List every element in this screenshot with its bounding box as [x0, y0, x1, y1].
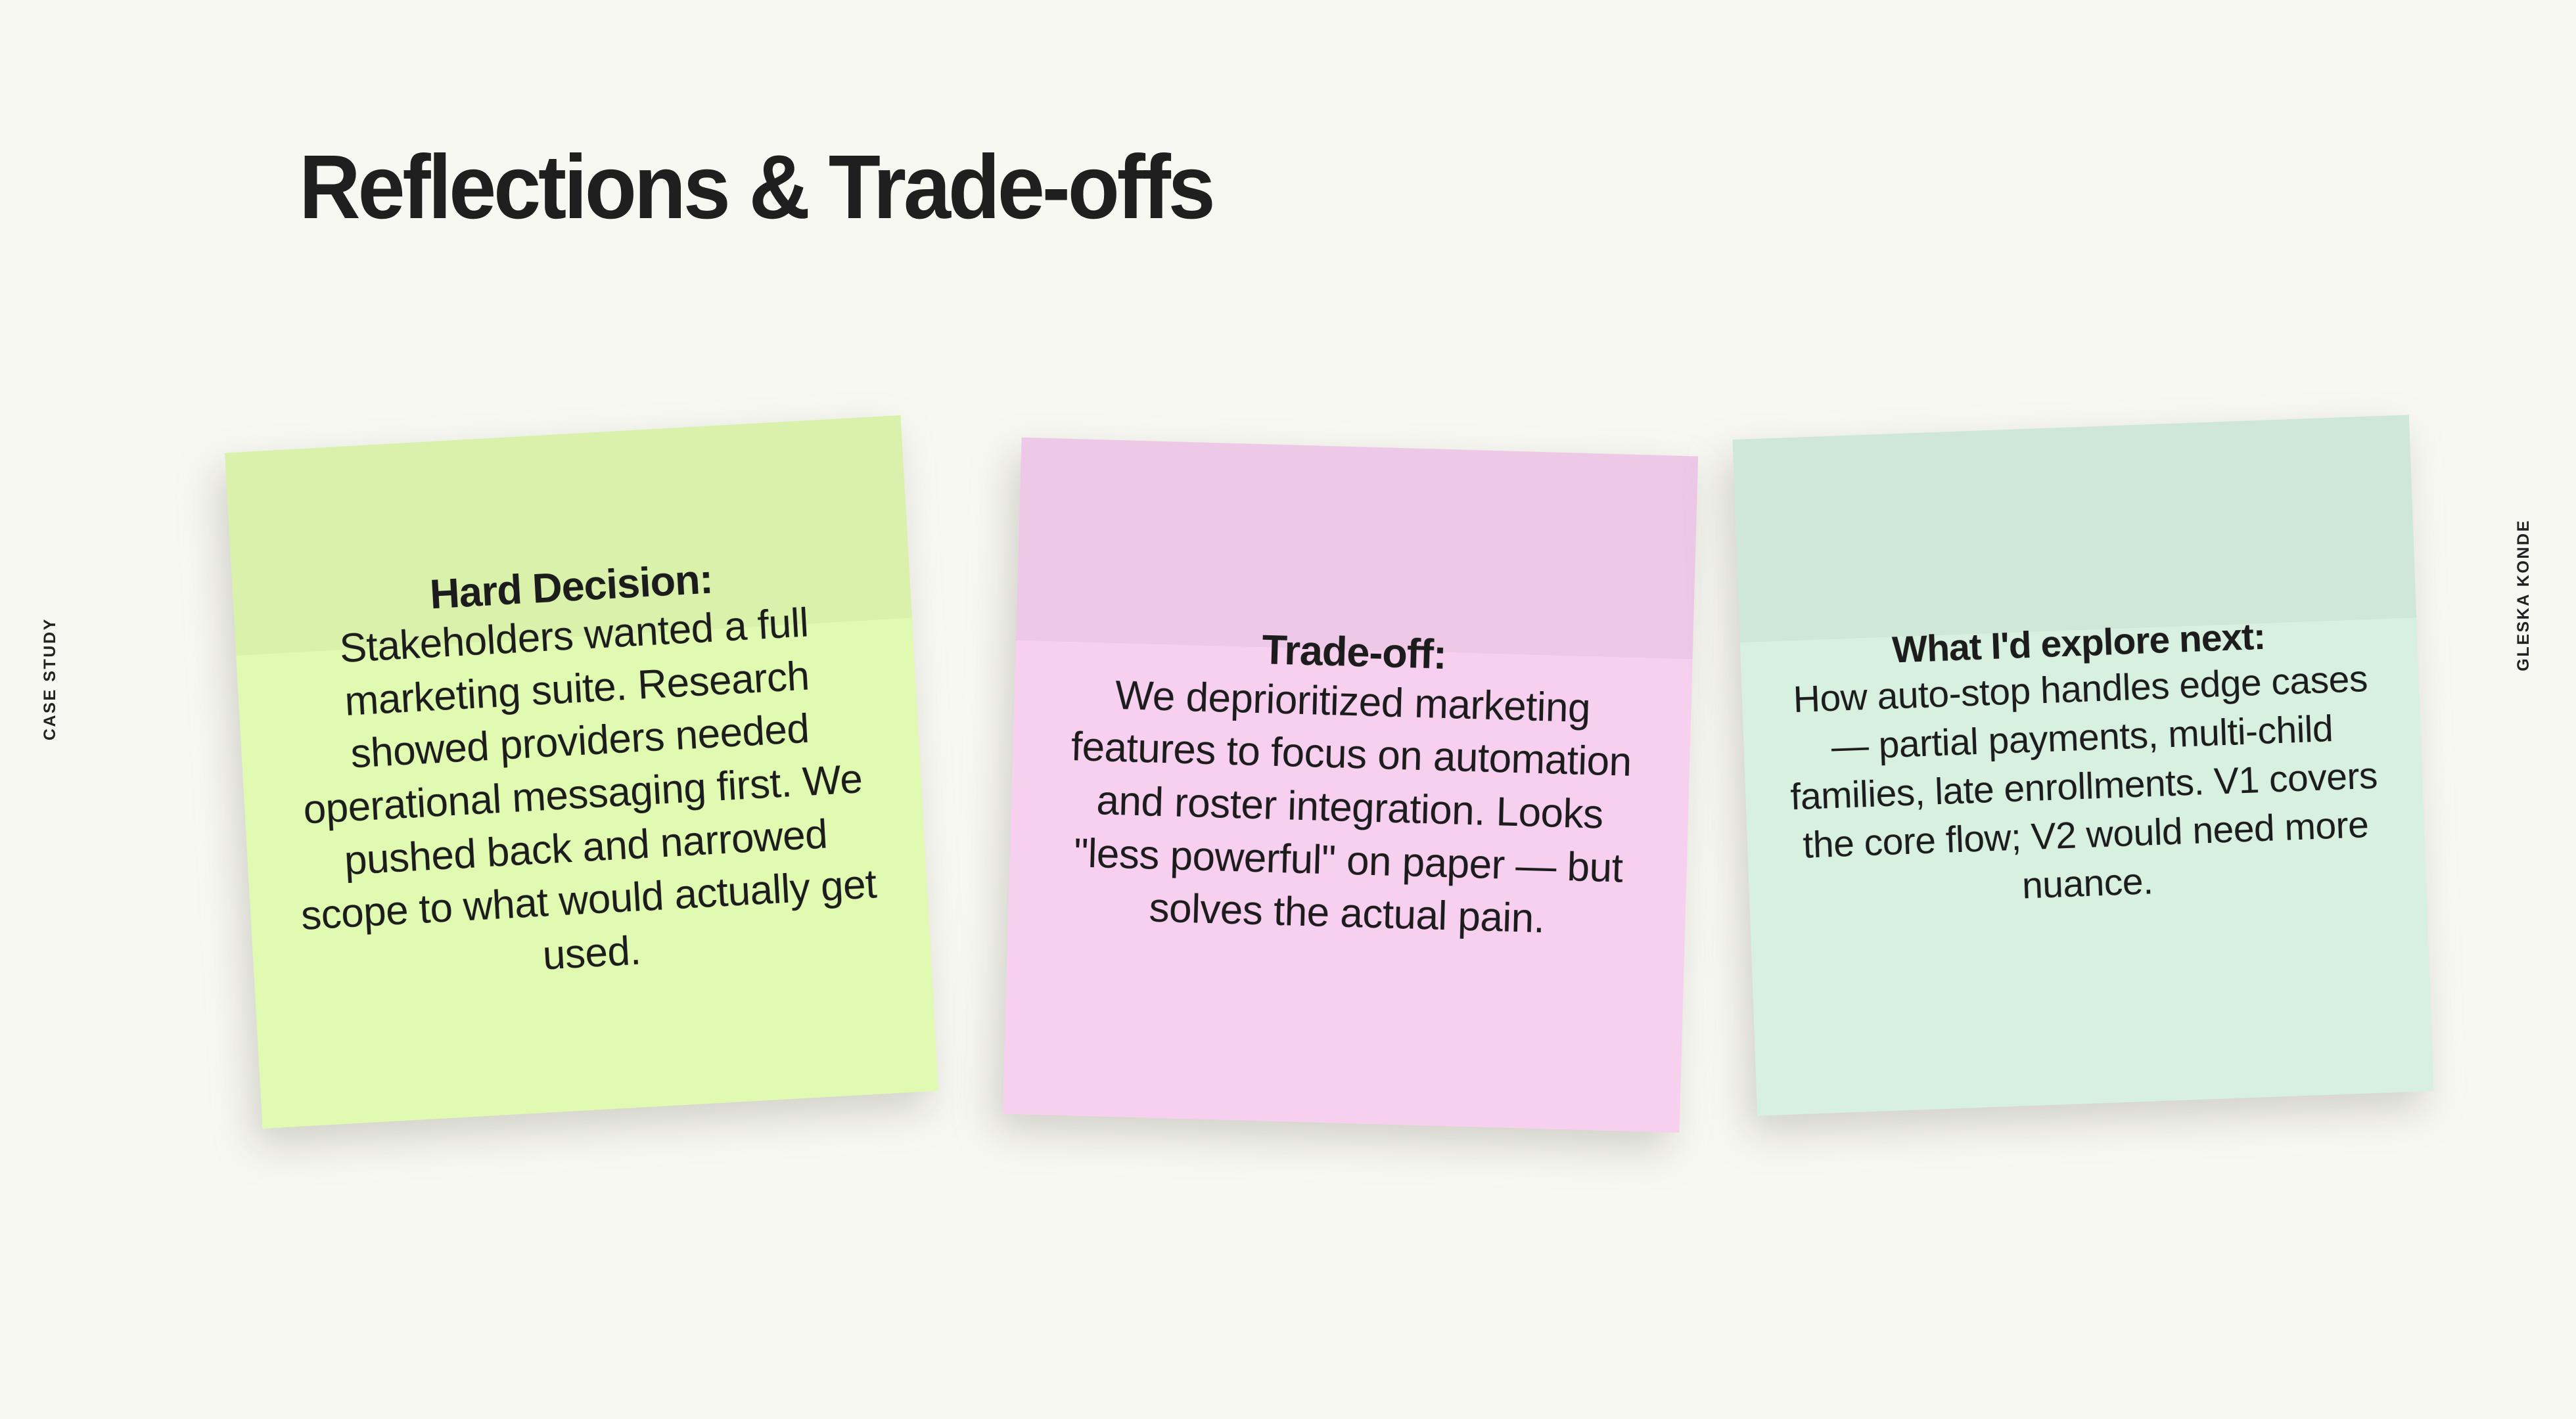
sticky-note-body: Stakeholders wanted a full marketing sui… [273, 593, 893, 997]
sticky-note-content: What I'd explore next: How auto-stop han… [1778, 612, 2388, 918]
sticky-note-body: How auto-stop handles edge cases — parti… [1780, 654, 2389, 919]
sticky-note-hard-decision: Hard Decision: Stakeholders wanted a ful… [225, 415, 938, 1129]
sticky-note-trade-off: Trade-off: We deprioritized marketing fe… [1003, 438, 1698, 1133]
sticky-notes-row: Hard Decision: Stakeholders wanted a ful… [0, 0, 2576, 1419]
sticky-note-content: Trade-off: We deprioritized marketing fe… [1046, 621, 1655, 949]
sticky-note-content: Hard Decision: Stakeholders wanted a ful… [270, 547, 893, 997]
sticky-note-explore-next: What I'd explore next: How auto-stop han… [1732, 415, 2433, 1115]
sticky-note-body: We deprioritized marketing features to f… [1046, 667, 1654, 949]
